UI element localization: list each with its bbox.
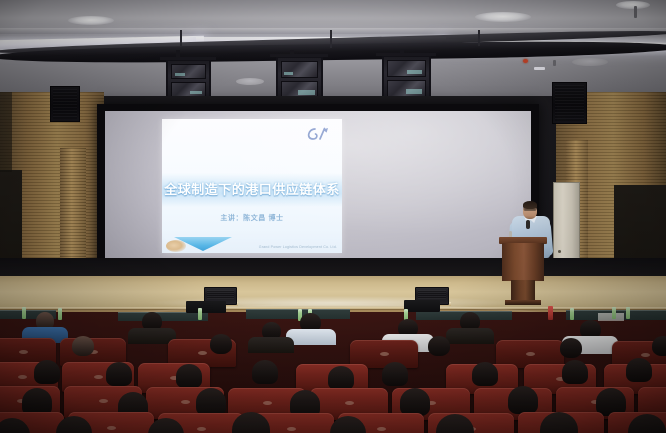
front-table-center — [118, 312, 208, 321]
audience-head-r3-3 — [176, 364, 202, 388]
presentation-slide: 全球制造下的港口供应链体系 主讲：陈文昌 博士 Grand Power Logi… — [162, 119, 342, 253]
seat-badge — [641, 353, 650, 357]
seat-badge — [380, 352, 389, 356]
projection-screen-surface: 全球制造下的港口供应链体系 主讲：陈文昌 博士 Grand Power Logi… — [105, 111, 531, 265]
wall-speaker-left — [50, 86, 80, 122]
ceiling-rig-right[interactable] — [382, 55, 431, 99]
table-laptop-center — [186, 301, 226, 313]
wall-speaker-right — [552, 82, 587, 124]
audience-head-r3-5 — [382, 362, 408, 386]
seat-badge — [377, 427, 386, 431]
rig-right-cell-bottom — [387, 80, 426, 97]
rig-center-glow-top — [284, 72, 293, 75]
rig-right-cell-top — [387, 60, 426, 77]
audience-head-r2-5 — [652, 336, 666, 356]
slide-footer-text: Grand Power Logistics Development Co. Lt… — [259, 245, 337, 249]
water-bottle-8 — [612, 307, 616, 319]
wall-speaker-left-grill — [53, 89, 77, 119]
rig-left-cell-top — [171, 64, 206, 79]
water-bottle-9 — [626, 307, 630, 319]
seat-badge — [107, 426, 116, 430]
ceiling-rear-slab — [0, 0, 666, 30]
slide-title: 全球制造下的港口供应链体系 — [162, 179, 342, 198]
seat-badge — [18, 375, 27, 379]
truss-hanger-1 — [180, 30, 182, 46]
rig-center-cell-top — [281, 61, 318, 78]
left-wall-dark-panel-upper — [0, 92, 12, 172]
truss-hanger-3 — [478, 30, 480, 46]
presenter-hair — [523, 201, 537, 209]
seat-badge — [263, 401, 272, 405]
seat-badge — [197, 427, 206, 431]
stage-monitor-right-grill — [418, 290, 446, 299]
red-thermos — [548, 306, 553, 320]
ceiling-rig-center[interactable] — [276, 56, 323, 100]
ceiling-sprinkler — [553, 60, 556, 66]
water-bottle-7 — [570, 308, 574, 320]
ceiling-downlight-3 — [616, 1, 650, 9]
stage-monitor-left-grill — [207, 290, 234, 299]
truss-hanger-2 — [330, 30, 332, 48]
audience-head-r2-1 — [72, 336, 94, 356]
rig-left-glow-bottom — [190, 91, 202, 94]
slide-corner-graphic — [166, 240, 186, 252]
water-bottle-1 — [22, 307, 26, 319]
lectern-body — [502, 243, 544, 281]
lectern-stem — [511, 280, 535, 302]
projection-screen: 全球制造下的港口供应链体系 主讲：陈文昌 博士 Grand Power Logi… — [97, 104, 539, 276]
ceiling-rig-left-arm — [160, 57, 216, 60]
lectern-base — [505, 300, 541, 305]
water-bottle-2 — [58, 308, 62, 320]
slide-subtitle: 主讲：陈文昌 博士 — [162, 213, 342, 223]
rig-right-glow-bottom — [406, 89, 422, 94]
stage-back-shadow — [0, 258, 666, 278]
audience-shoulders-r1-8 — [248, 337, 294, 353]
audience-seating — [0, 312, 666, 433]
ceiling-rig-left[interactable] — [166, 59, 211, 99]
audience-head-r3-8 — [626, 358, 652, 382]
audience-head-r3-2 — [106, 362, 132, 386]
audience-head-r3-1 — [34, 360, 60, 384]
lectern — [499, 237, 547, 305]
seat-badge — [526, 352, 535, 356]
audience-head-r4-5 — [400, 388, 430, 416]
door-knob[interactable] — [558, 250, 561, 253]
seat-badge — [99, 399, 108, 403]
water-bottle-3 — [198, 308, 202, 320]
ceiling-vent-2 — [572, 58, 608, 66]
audience-head-r2-3 — [428, 336, 450, 356]
fire-alarm-indicator — [523, 59, 528, 63]
ceiling-downlight-2 — [475, 12, 531, 22]
audience-head-r3-4 — [252, 360, 278, 384]
seat-badge — [94, 375, 103, 379]
seat-badge — [198, 351, 207, 355]
auditorium-scene: 全球制造下的港口供应链体系 主讲：陈文昌 博士 Grand Power Logi… — [0, 0, 666, 433]
gp-swoosh-logo — [303, 126, 333, 143]
ceiling-small-light — [534, 67, 545, 70]
ceiling-vent-1 — [236, 78, 264, 85]
audience-head-r3-6 — [472, 362, 498, 386]
seat-badge — [287, 427, 296, 431]
ceiling-mount-rod — [634, 6, 637, 18]
audience-head-r2-2 — [210, 334, 232, 354]
ceiling-downlight-1 — [68, 16, 114, 25]
table-laptop-right — [404, 300, 440, 312]
handheld-microphone — [526, 220, 530, 229]
seat-badge — [19, 350, 28, 354]
rig-left-cell-bottom — [171, 82, 206, 97]
rig-right-glow-top — [407, 70, 422, 74]
audience-head-r3-7 — [562, 360, 588, 384]
presenter-glasses — [524, 209, 536, 211]
ceiling-rig-center-arm — [270, 54, 328, 57]
seat-badge — [181, 400, 190, 404]
audience-head-r4-3 — [196, 388, 226, 416]
seat-badge — [345, 401, 354, 405]
audience-head-r4-6 — [508, 386, 538, 414]
audience-shoulders-r1-4 — [446, 328, 494, 344]
audience-head-r2-4 — [560, 338, 582, 358]
audience-head-r3-9 — [328, 366, 354, 390]
rig-center-glow-bottom — [298, 90, 315, 95]
wall-speaker-right-grill — [555, 85, 584, 121]
table-papers — [598, 313, 624, 321]
rig-left-glow-top — [175, 73, 185, 76]
ceiling-rig-right-arm — [376, 53, 436, 56]
